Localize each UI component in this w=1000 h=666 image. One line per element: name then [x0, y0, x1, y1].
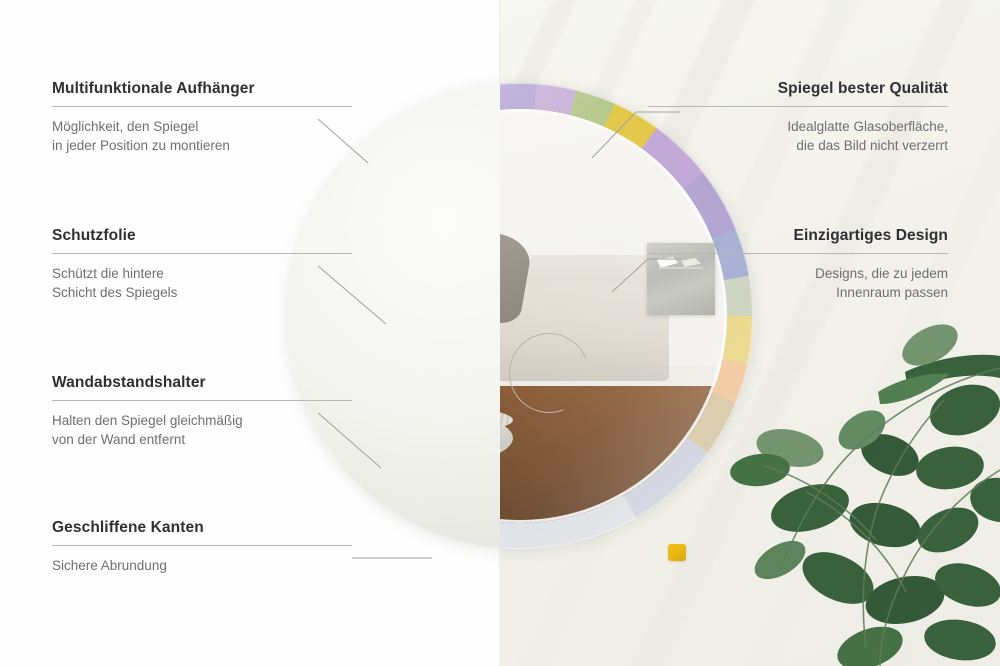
- callout-description: Idealglatte Glasoberfläche, die das Bild…: [648, 117, 948, 155]
- callout-line: in jeder Position zu montieren: [52, 136, 352, 155]
- callout-title: Wandabstandshalter: [52, 374, 352, 391]
- wall-spacer-pad: [668, 544, 686, 561]
- callout-description: Designs, die zu jedem Innenraum passen: [648, 264, 948, 302]
- callout-rule: [648, 106, 948, 107]
- callout-line: Innenraum passen: [648, 283, 948, 302]
- callout-line: Schicht des Spiegels: [52, 283, 352, 302]
- callout-line: die das Bild nicht verzerrt: [648, 136, 948, 155]
- callout-rule: [52, 106, 352, 107]
- infographic-canvas: Multifunktionale Aufhänger Möglichkeit, …: [0, 0, 1000, 666]
- callout-description: Schützt die hintere Schicht des Spiegels: [52, 264, 352, 302]
- callout-title: Multifunktionale Aufhänger: [52, 80, 352, 97]
- callout-multifunktionale-aufhaenger: Multifunktionale Aufhänger Möglichkeit, …: [52, 80, 352, 155]
- callout-spiegel-bester-qualitaet: Spiegel bester Qualität Idealglatte Glas…: [648, 80, 948, 155]
- callout-line: Idealglatte Glasoberfläche,: [648, 117, 948, 136]
- callout-line: Designs, die zu jedem: [648, 264, 948, 283]
- callout-title: Einzigartiges Design: [648, 227, 948, 244]
- callout-rule: [52, 253, 352, 254]
- callout-rule: [52, 545, 352, 546]
- callout-einzigartiges-design: Einzigartiges Design Designs, die zu jed…: [648, 227, 948, 302]
- callout-rule: [52, 400, 352, 401]
- callout-title: Geschliffene Kanten: [52, 519, 352, 536]
- callout-wandabstandshalter: Wandabstandshalter Halten den Spiegel gl…: [52, 374, 352, 449]
- callout-description: Möglichkeit, den Spiegel in jeder Positi…: [52, 117, 352, 155]
- callout-title: Spiegel bester Qualität: [648, 80, 948, 97]
- callout-title: Schutzfolie: [52, 227, 352, 244]
- callout-description: Halten den Spiegel gleichmäßig von der W…: [52, 411, 352, 449]
- callout-line: Sichere Abrundung: [52, 556, 352, 575]
- callout-line: von der Wand entfernt: [52, 430, 352, 449]
- callout-line: Möglichkeit, den Spiegel: [52, 117, 352, 136]
- callout-line: Halten den Spiegel gleichmäßig: [52, 411, 352, 430]
- callout-rule: [648, 253, 948, 254]
- callout-line: Schützt die hintere: [52, 264, 352, 283]
- callout-schutzfolie: Schutzfolie Schützt die hintere Schicht …: [52, 227, 352, 302]
- callout-description: Sichere Abrundung: [52, 556, 352, 575]
- mirror-glass: [500, 109, 727, 523]
- callout-geschliffene-kanten: Geschliffene Kanten Sichere Abrundung: [52, 519, 352, 575]
